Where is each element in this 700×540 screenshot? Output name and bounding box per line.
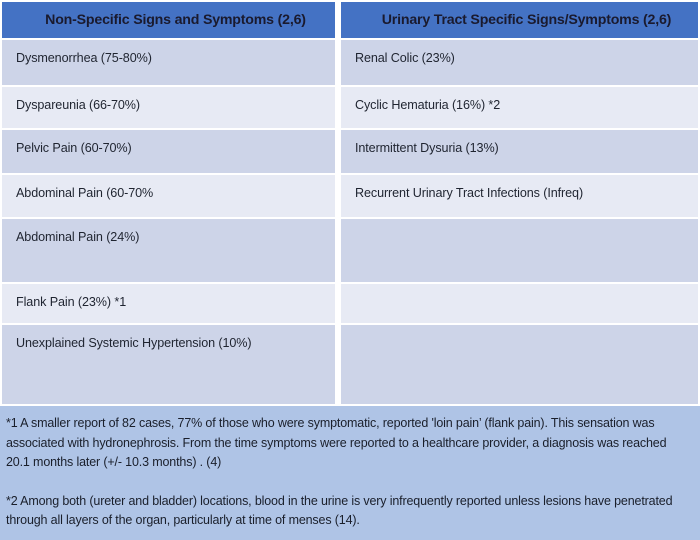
table-header: Non-Specific Signs and Symptoms (2,6) Ur… [2,2,698,40]
table-row: Dysmenorrhea (75-80%) Renal Colic (23%) [2,40,698,87]
cell-urinary-7 [341,325,698,406]
cell-non-specific-1: Dysmenorrhea (75-80%) [2,40,335,87]
table-row: Unexplained Systemic Hypertension (10%) [2,325,698,406]
cell-urinary-4: Recurrent Urinary Tract Infections (Infr… [341,175,698,219]
symptoms-table-page: Non-Specific Signs and Symptoms (2,6) Ur… [0,0,700,540]
cell-urinary-2: Cyclic Hematuria (16%) *2 [341,87,698,130]
header-row: Non-Specific Signs and Symptoms (2,6) Ur… [2,2,698,40]
symptoms-table-container: Non-Specific Signs and Symptoms (2,6) Ur… [0,0,700,406]
cell-text: Flank Pain (23%) *1 [16,284,335,310]
cell-non-specific-2: Dyspareunia (66-70%) [2,87,335,130]
cell-text [355,284,698,295]
table-row: Abdominal Pain (24%) [2,219,698,284]
cell-urinary-5 [341,219,698,284]
cell-text [355,325,698,336]
table-row: Flank Pain (23%) *1 [2,284,698,326]
cell-text: Unexplained Systemic Hypertension (10%) [16,325,335,351]
table-row: Abdominal Pain (60-70% Recurrent Urinary… [2,175,698,219]
cell-text: Abdominal Pain (60-70% [16,175,335,201]
cell-text: Intermittent Dysuria (13%) [355,130,698,156]
cell-text: Dyspareunia (66-70%) [16,87,335,113]
cell-urinary-1: Renal Colic (23%) [341,40,698,87]
cell-text: Renal Colic (23%) [355,40,698,66]
cell-non-specific-7: Unexplained Systemic Hypertension (10%) [2,325,335,406]
table-row: Pelvic Pain (60-70%) Intermittent Dysuri… [2,130,698,175]
footnote-2: *2 Among both (ureter and bladder) locat… [6,492,690,531]
footnotes-panel: *1 A smaller report of 82 cases, 77% of … [0,406,700,540]
cell-text: Cyclic Hematuria (16%) *2 [355,87,698,113]
table-row: Dyspareunia (66-70%) Cyclic Hematuria (1… [2,87,698,130]
cell-non-specific-6: Flank Pain (23%) *1 [2,284,335,326]
cell-text [355,219,698,230]
symptoms-table: Non-Specific Signs and Symptoms (2,6) Ur… [2,2,698,406]
column-header-non-specific: Non-Specific Signs and Symptoms (2,6) [2,2,335,40]
cell-non-specific-4: Abdominal Pain (60-70% [2,175,335,219]
cell-text: Recurrent Urinary Tract Infections (Infr… [355,175,698,201]
cell-text: Dysmenorrhea (75-80%) [16,40,335,66]
cell-urinary-3: Intermittent Dysuria (13%) [341,130,698,175]
footnote-1: *1 A smaller report of 82 cases, 77% of … [6,414,690,473]
cell-non-specific-3: Pelvic Pain (60-70%) [2,130,335,175]
table-body: Dysmenorrhea (75-80%) Renal Colic (23%) … [2,40,698,406]
cell-text: Pelvic Pain (60-70%) [16,130,335,156]
column-header-urinary-tract: Urinary Tract Specific Signs/Symptoms (2… [341,2,698,40]
cell-non-specific-5: Abdominal Pain (24%) [2,219,335,284]
cell-urinary-6 [341,284,698,326]
cell-text: Abdominal Pain (24%) [16,219,335,245]
